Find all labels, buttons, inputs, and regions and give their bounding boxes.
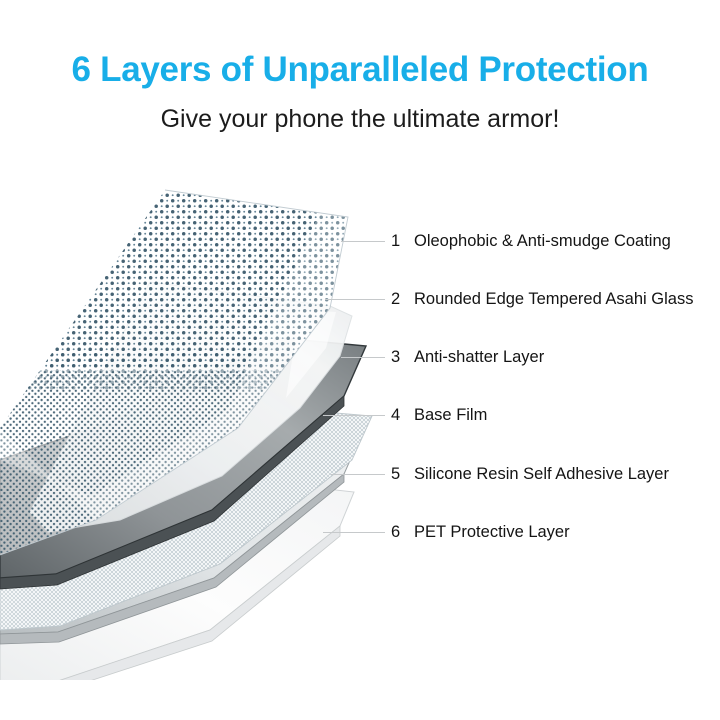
leader-line-1 (341, 241, 385, 242)
callout-3: 3 Anti-shatter Layer (391, 346, 544, 368)
callout-label-6: PET Protective Layer (414, 521, 570, 543)
callout-number-6: 6 (391, 521, 405, 543)
leader-line-6 (323, 532, 385, 533)
callout-number-1: 1 (391, 230, 405, 252)
callout-label-2: Rounded Edge Tempered Asahi Glass (414, 288, 693, 310)
callout-4: 4 Base Film (391, 404, 487, 426)
callout-2: 2 Rounded Edge Tempered Asahi Glass (391, 288, 693, 310)
callout-number-5: 5 (391, 463, 405, 485)
callout-label-3: Anti-shatter Layer (414, 346, 544, 368)
callout-1: 1 Oleophobic & Anti-smudge Coating (391, 230, 671, 252)
callout-label-1: Oleophobic & Anti-smudge Coating (414, 230, 671, 252)
callout-number-4: 4 (391, 404, 405, 426)
callout-number-3: 3 (391, 346, 405, 368)
leader-line-3 (341, 357, 385, 358)
callout-label-5: Silicone Resin Self Adhesive Layer (414, 463, 669, 485)
leader-line-5 (331, 474, 385, 475)
leader-line-4 (323, 415, 385, 416)
callout-5: 5 Silicone Resin Self Adhesive Layer (391, 463, 669, 485)
infographic-root: 6 Layers of Unparalleled Protection Give… (0, 0, 720, 720)
leader-line-2 (325, 299, 385, 300)
callout-label-4: Base Film (414, 404, 487, 426)
callout-number-2: 2 (391, 288, 405, 310)
callout-6: 6 PET Protective Layer (391, 521, 570, 543)
callout-list: 1 Oleophobic & Anti-smudge Coating 2 Rou… (0, 0, 720, 720)
